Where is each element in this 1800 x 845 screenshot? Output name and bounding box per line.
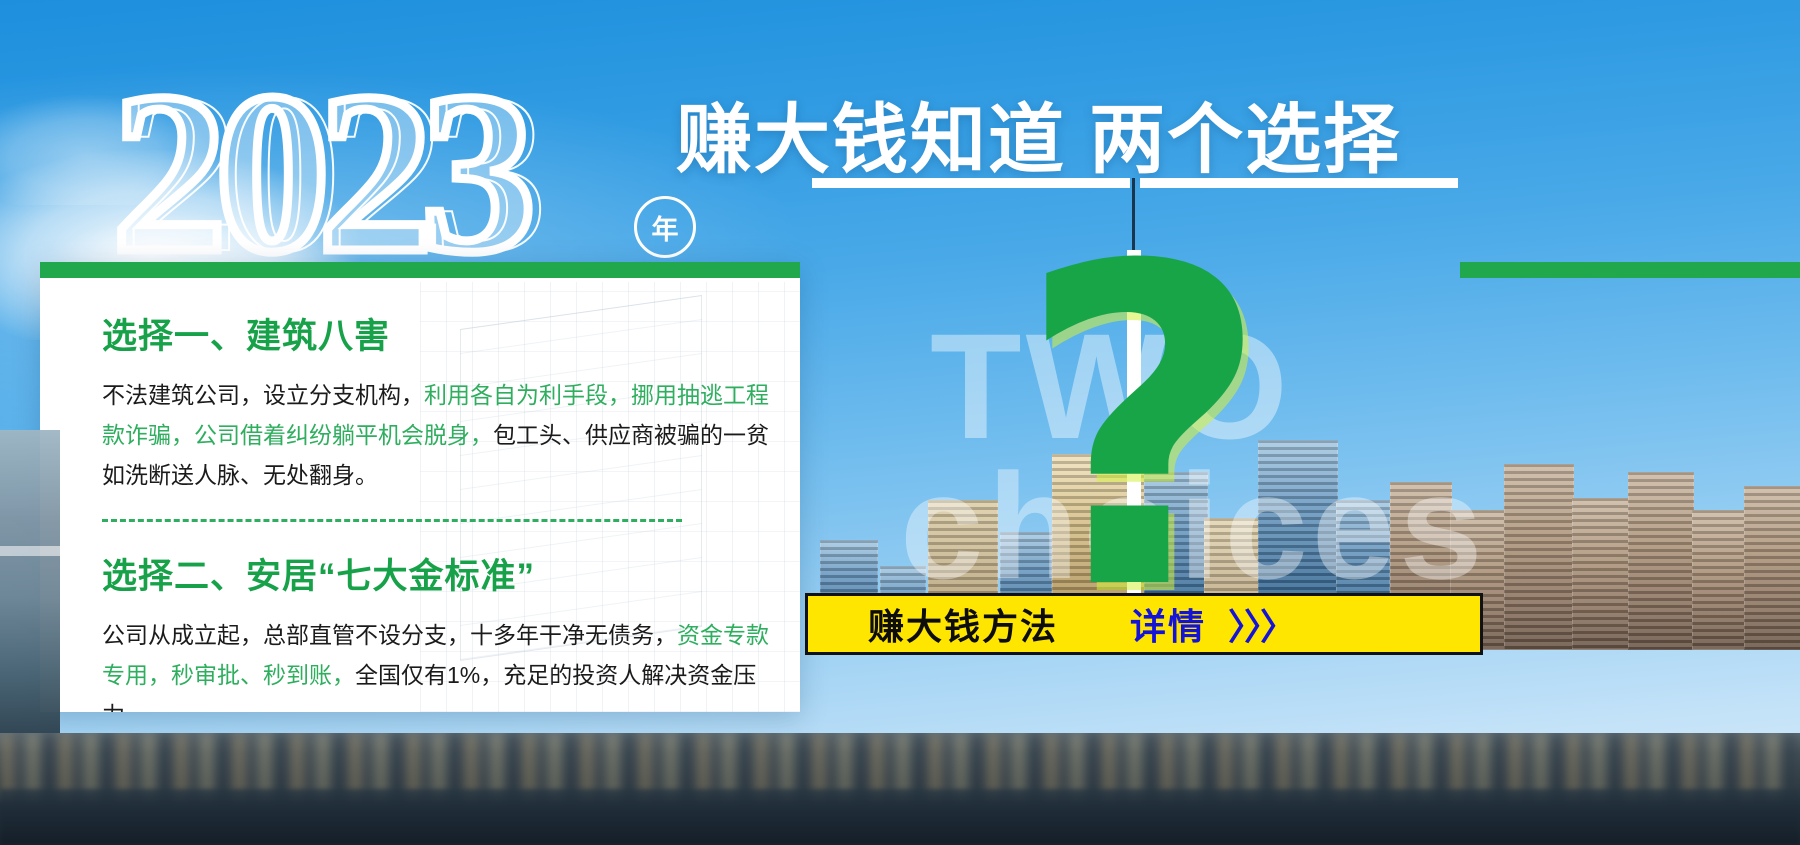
section-one-body: 不法建筑公司，设立分支机构，利用各自为利手段，挪用抽逃工程款诈骗，公司借着纠纷躺… — [102, 375, 776, 495]
blurred-city — [0, 733, 1800, 797]
year-unit-badge: 年 — [634, 196, 696, 258]
section-two-title: 选择二、安居“七大金标准” — [102, 548, 776, 599]
section-divider — [102, 519, 682, 522]
headline-rule-left — [812, 178, 1130, 188]
cta-details-link[interactable]: 详情 — [1130, 598, 1206, 650]
chevron-right-icon[interactable]: 〉〉〉 — [1228, 598, 1294, 650]
water-reflection — [0, 789, 1800, 845]
section-one-title: 选择一、建筑八害 — [102, 308, 776, 359]
promo-banner: TWO choices ? 2023 2023 年 赚大钱知道 两个选择 选择一… — [0, 0, 1800, 845]
left-edge-photo — [0, 430, 60, 735]
headline-rule-right — [1140, 178, 1458, 188]
green-accent-bar-right — [1460, 262, 1800, 278]
cta-bar[interactable]: 赚大钱方法 详情 〉〉〉 — [805, 593, 1483, 655]
cta-main-label: 赚大钱方法 — [868, 598, 1058, 650]
card-top-accent — [40, 262, 800, 278]
question-mark-icon: ? — [1016, 210, 1271, 650]
bottom-city-water-strip — [0, 733, 1800, 845]
section-one-part-1: 不法建筑公司，设立分支机构， — [102, 382, 424, 408]
headline-rule-drop — [1132, 178, 1135, 250]
section-two-body: 公司从成立起，总部直管不设分支，十多年干净无债务，资金专款专用，秒审批、秒到账，… — [102, 615, 776, 712]
content-card: 选择一、建筑八害 不法建筑公司，设立分支机构，利用各自为利手段，挪用抽逃工程款诈… — [40, 262, 800, 712]
section-two-part-1: 公司从成立起，总部直管不设分支，十多年干净无债务， — [102, 622, 677, 648]
headline: 赚大钱知道 两个选择 — [676, 78, 1401, 188]
year-number-ghost: 2023 — [124, 58, 536, 288]
